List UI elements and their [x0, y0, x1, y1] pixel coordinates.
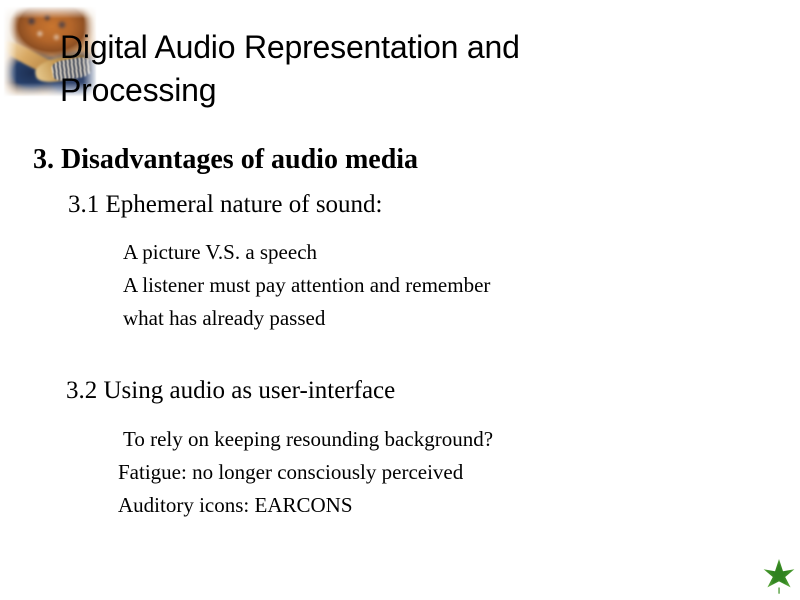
slide-title-line-2: Processing [60, 69, 660, 112]
section-3-1-subheading: 3.1 Ephemeral nature of sound: [68, 191, 383, 219]
slide-title: Digital Audio Representation and Process… [60, 26, 660, 112]
section-3-2-body-line-3: Auditory icons: EARCONS [118, 489, 493, 522]
slide-title-line-1: Digital Audio Representation and [60, 26, 660, 69]
section-3-2-subheading: 3.2 Using audio as user-interface [66, 377, 395, 405]
section-3-2-body: To rely on keeping resounding background… [118, 423, 493, 522]
section-3-1-body-line-3: what has already passed [123, 302, 490, 335]
section-3-1-body-line-1: A picture V.S. a speech [123, 236, 490, 269]
section-3-1-body: A picture V.S. a speech A listener must … [123, 236, 490, 335]
slide-canvas: Digital Audio Representation and Process… [0, 0, 800, 600]
section-3-1-body-line-2: A listener must pay attention and rememb… [123, 269, 490, 302]
section-3-heading: 3. Disadvantages of audio media [33, 144, 418, 176]
section-3-2-body-line-1: To rely on keeping resounding background… [118, 423, 493, 456]
green-star-icon [762, 556, 796, 596]
section-3-2-body-line-2: Fatigue: no longer consciously perceived [118, 456, 493, 489]
